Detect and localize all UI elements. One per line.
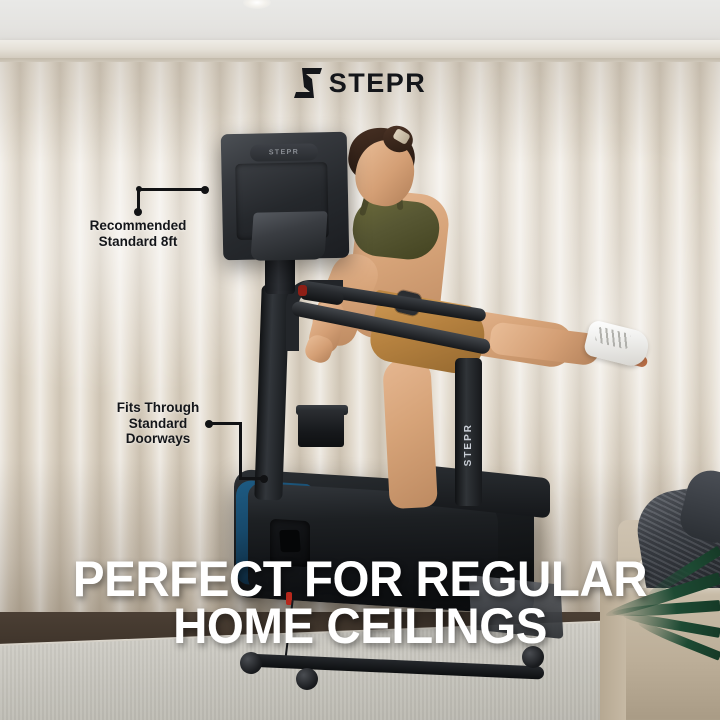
machine-post-logo: STEPR (460, 400, 476, 490)
headline: PERFECT FOR REGULAR HOME CEILINGS (0, 556, 720, 650)
promo-image: STEPR STEPR STEPR Recommended Standard 8… (0, 0, 720, 720)
machine-console-hood (250, 211, 327, 261)
headline-line-2: HOME CEILINGS (18, 603, 702, 650)
callout-line-horizontal (209, 422, 242, 425)
callout-dot-start (134, 208, 142, 216)
machine-console-badge: STEPR (250, 143, 318, 161)
athlete-standing-leg (382, 357, 438, 509)
machine-post-logo-text: STEPR (463, 423, 474, 466)
brand-logo-text: STEPR (329, 70, 427, 97)
callout-line-vertical (239, 422, 242, 480)
headline-line-1: PERFECT FOR REGULAR (18, 556, 702, 603)
callout-ceiling-height-text: Recommended Standard 8ft (66, 218, 210, 249)
callout-line-corner (136, 186, 142, 192)
machine-accessory-tray (298, 410, 344, 447)
machine-wheel (240, 652, 262, 674)
callout-doorway-text: Fits Through Standard Doorways (108, 400, 208, 447)
machine-wheel (296, 668, 318, 690)
machine-console-badge-text: STEPR (269, 149, 299, 157)
callout-line-horizontal (137, 188, 203, 191)
brand-logo: STEPR (0, 66, 720, 100)
machine-grip-red-accent (298, 285, 307, 296)
stepr-s-mark-icon (294, 68, 322, 98)
machine-side-vent-inner (279, 530, 300, 552)
callout-dot-end (260, 475, 268, 483)
